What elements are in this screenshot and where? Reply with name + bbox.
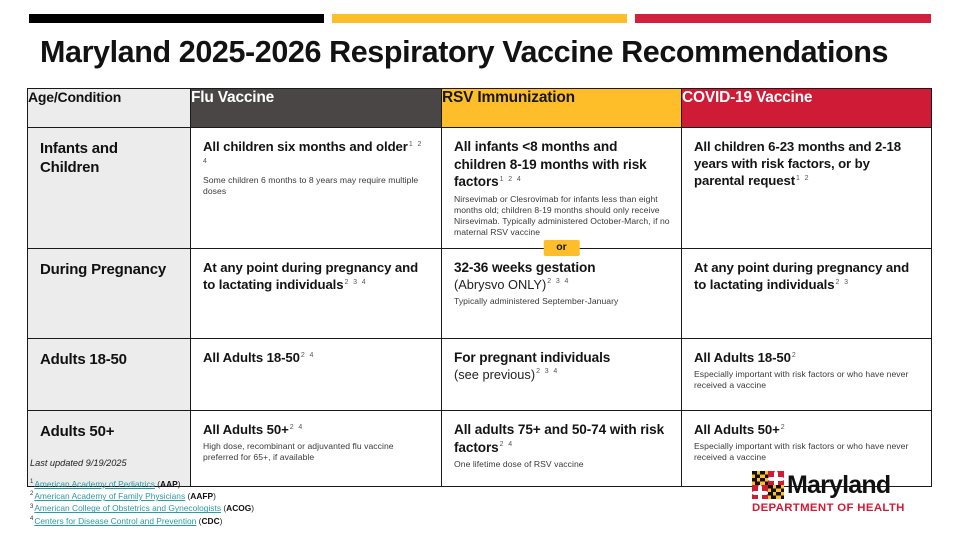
table-header-row: Age/Condition Flu Vaccine RSV Immunizati… xyxy=(28,89,932,128)
footnote-abbr: AAFP xyxy=(190,491,213,501)
maryland-flag-icon xyxy=(752,471,784,499)
cell-main-text: At any point during pregnancy and to lac… xyxy=(694,259,920,293)
row-label-adults-18-50: Adults 18-50 xyxy=(28,339,191,411)
cell-covid-during-pregnancy: At any point during pregnancy and to lac… xyxy=(682,249,932,339)
cell-main-text: All children six months and older1 2 4 xyxy=(203,138,430,172)
table-body: Infants and Children All children six mo… xyxy=(28,128,932,487)
cell-main-text: 32-36 weeks gestation xyxy=(454,259,670,277)
reference-marks: 2 3 4 xyxy=(547,278,570,285)
reference-marks: 1 2 4 xyxy=(500,176,523,183)
column-header-covid-vaccine: COVID-19 Vaccine xyxy=(682,89,932,128)
cell-note-text: Especially important with risk factors o… xyxy=(694,441,920,463)
accent-bar-black xyxy=(29,14,324,23)
cell-rsv-adults-50-plus: All adults 75+ and 50-74 with risk facto… xyxy=(442,411,682,487)
cell-note-text: Some children 6 months to 8 years may re… xyxy=(203,175,430,197)
footnotes-list: 1American Academy of Pediatrics (AAP) 2A… xyxy=(30,478,254,527)
cell-flu-adults-18-50: All Adults 18-502 4 xyxy=(191,339,442,411)
cell-main-text: All Adults 50+2 xyxy=(694,421,920,438)
cell-main-text: All Adults 18-502 4 xyxy=(203,349,430,366)
cell-sub-text: (see previous)2 3 4 xyxy=(454,367,670,383)
cell-main-text: At any point during pregnancy and to lac… xyxy=(203,259,430,293)
footnote-link-aap[interactable]: American Academy of Pediatrics xyxy=(34,479,155,489)
footnote-number: 4 xyxy=(30,516,33,522)
cell-rsv-adults-18-50: For pregnant individuals (see previous)2… xyxy=(442,339,682,411)
column-header-rsv-immunization: RSV Immunization xyxy=(442,89,682,128)
footnote-number: 1 xyxy=(30,479,33,485)
footnote-item: 1American Academy of Pediatrics (AAP) xyxy=(30,478,254,490)
cell-main-text: All Adults 50+2 4 xyxy=(203,421,430,438)
table-row: Adults 18-50 All Adults 18-502 4 For pre… xyxy=(28,339,932,411)
footnote-link-aafp[interactable]: American Academy of Family Physicians xyxy=(34,491,185,501)
cell-main-text: All infants <8 months and children 8-19 … xyxy=(454,138,670,191)
cell-main-text: For pregnant individuals xyxy=(454,349,670,367)
cell-flu-during-pregnancy: At any point during pregnancy and to lac… xyxy=(191,249,442,339)
reference-marks: 2 3 4 xyxy=(536,368,559,375)
footnote-abbr: CDC xyxy=(201,516,219,526)
or-badge: or xyxy=(543,240,580,256)
page-title: Maryland 2025-2026 Respiratory Vaccine R… xyxy=(40,36,930,70)
last-updated-text: Last updated 9/19/2025 xyxy=(30,458,127,468)
cell-note-text: High dose, recombinant or adjuvanted flu… xyxy=(203,441,430,463)
accent-bar-red xyxy=(635,14,931,23)
maryland-department-of-health-logo: Maryland DEPARTMENT OF HEALTH xyxy=(752,470,932,518)
table-header: Age/Condition Flu Vaccine RSV Immunizati… xyxy=(28,89,932,128)
cell-note-text: One lifetime dose of RSV vaccine xyxy=(454,459,670,470)
footnote-link-acog[interactable]: American College of Obstetrics and Gynec… xyxy=(34,503,221,513)
accent-bar-group xyxy=(29,14,931,23)
reference-marks: 2 4 xyxy=(290,424,304,431)
table-row: Infants and Children All children six mo… xyxy=(28,128,932,249)
footnote-number: 2 xyxy=(30,491,33,497)
cell-flu-infants-and-children: All children six months and older1 2 4 S… xyxy=(191,128,442,249)
cell-main-text: All children 6-23 months and 2-18 years … xyxy=(694,138,920,189)
cell-covid-infants-and-children: All children 6-23 months and 2-18 years … xyxy=(682,128,932,249)
reference-marks: 2 xyxy=(792,352,797,359)
column-header-flu-vaccine: Flu Vaccine xyxy=(191,89,442,128)
cell-rsv-infants-and-children: All infants <8 months and children 8-19 … xyxy=(442,128,682,249)
logo-subtitle: DEPARTMENT OF HEALTH xyxy=(752,502,932,514)
logo-wordmark: Maryland xyxy=(787,473,890,498)
footnote-item: 4Centers for Disease Control and Prevent… xyxy=(30,515,254,527)
cell-covid-adults-18-50: All Adults 18-502 Especially important w… xyxy=(682,339,932,411)
cell-note-text: Especially important with risk factors o… xyxy=(694,369,920,391)
row-label-during-pregnancy: During Pregnancy xyxy=(28,249,191,339)
accent-bar-gold xyxy=(332,14,627,23)
vaccine-recommendations-table: Age/Condition Flu Vaccine RSV Immunizati… xyxy=(27,88,932,487)
reference-marks: 1 2 xyxy=(796,175,810,182)
reference-marks: 2 3 xyxy=(835,279,849,286)
table-row: During Pregnancy At any point during pre… xyxy=(28,249,932,339)
cell-main-text: All adults 75+ and 50-74 with risk facto… xyxy=(454,421,670,456)
reference-marks: 2 4 xyxy=(301,352,315,359)
cell-flu-adults-50-plus: All Adults 50+2 4 High dose, recombinant… xyxy=(191,411,442,487)
reference-marks: 2 3 4 xyxy=(344,279,367,286)
footnote-item: 3American College of Obstetrics and Gyne… xyxy=(30,502,254,514)
row-label-adults-50-plus: Adults 50+ xyxy=(28,411,191,487)
column-header-age-condition: Age/Condition xyxy=(28,89,191,128)
cell-sub-text: (Abrysvo ONLY)2 3 4 xyxy=(454,277,670,293)
footnote-item: 2American Academy of Family Physicians (… xyxy=(30,490,254,502)
cell-rsv-during-pregnancy: or 32-36 weeks gestation (Abrysvo ONLY)2… xyxy=(442,249,682,339)
footnote-number: 3 xyxy=(30,504,33,510)
reference-marks: 2 4 xyxy=(500,441,514,448)
cell-main-text: All Adults 18-502 xyxy=(694,349,920,366)
reference-marks: 2 xyxy=(781,424,786,431)
row-label-infants-and-children: Infants and Children xyxy=(28,128,191,249)
footnote-abbr: ACOG xyxy=(226,503,251,513)
footnote-abbr: AAP xyxy=(160,479,178,489)
logo-top-row: Maryland xyxy=(752,470,932,500)
cell-note-text: Typically administered September-January xyxy=(454,296,670,307)
cell-note-text: Nirsevimab or Clesrovimab for infants le… xyxy=(454,194,670,238)
footnote-link-cdc[interactable]: Centers for Disease Control and Preventi… xyxy=(34,516,196,526)
